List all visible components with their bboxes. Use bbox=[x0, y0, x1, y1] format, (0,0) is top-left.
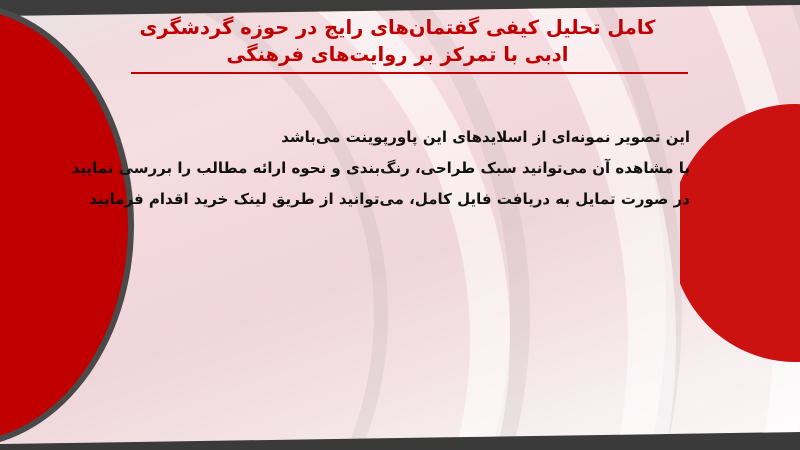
body-line-3: در صورت تمایل به دریافت فایل کامل، می‌تو… bbox=[110, 184, 690, 215]
body-line-1: این تصویر نمونه‌ای از اسلایدهای این پاور… bbox=[110, 122, 690, 153]
title-underline bbox=[131, 72, 688, 74]
right-red-ellipse bbox=[680, 104, 800, 362]
body-line-2: با مشاهده آن می‌توانید سبک طراحی، رنگ‌بن… bbox=[110, 153, 690, 184]
right-ellipse-clip bbox=[680, 0, 800, 450]
title-line-1: کامل تحلیل کیفی گفتمان‌های رایج در حوزه … bbox=[105, 14, 690, 41]
presentation-slide: کامل تحلیل کیفی گفتمان‌های رایج در حوزه … bbox=[0, 0, 800, 450]
slide-body: این تصویر نمونه‌ای از اسلایدهای این پاور… bbox=[110, 122, 690, 215]
title-line-2: ادبی با تمرکز بر روایت‌های فرهنگی bbox=[105, 41, 690, 68]
slide-title: کامل تحلیل کیفی گفتمان‌های رایج در حوزه … bbox=[105, 14, 690, 68]
left-ellipse-outline bbox=[0, 2, 134, 448]
